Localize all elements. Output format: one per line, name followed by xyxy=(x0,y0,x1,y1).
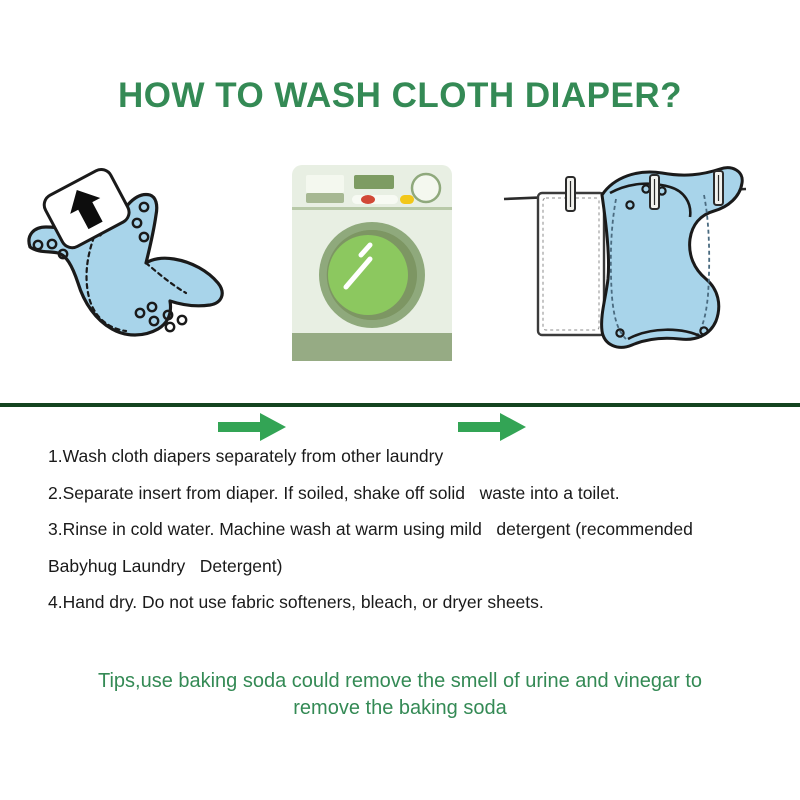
panel-divider xyxy=(292,207,452,210)
arrow-machine-to-line-icon xyxy=(458,410,528,444)
infographic-page: HOW TO WASH CLOTH DIAPER? xyxy=(0,0,800,800)
illustration-band xyxy=(0,155,800,380)
tips-line-2: remove the baking soda xyxy=(0,695,800,722)
instruction-step-2: 2.Separate insert from diaper. If soiled… xyxy=(48,485,760,503)
arrow-diaper-to-machine-icon xyxy=(218,410,288,444)
clothespin xyxy=(650,175,659,209)
machine-knob xyxy=(412,174,440,202)
tips-line-1: Tips,use baking soda could remove the sm… xyxy=(0,668,800,695)
clothespin xyxy=(566,177,575,211)
machine-control-panel xyxy=(306,174,440,204)
page-title: HOW TO WASH CLOTH DIAPER? xyxy=(0,76,800,116)
clothesline-illustration xyxy=(498,155,778,380)
clothespin xyxy=(714,171,723,205)
instruction-list: 1.Wash cloth diapers separately from oth… xyxy=(48,448,760,612)
indicator-light-red xyxy=(361,195,375,204)
instruction-step-1: 1.Wash cloth diapers separately from oth… xyxy=(48,448,760,466)
indicator-light-yellow xyxy=(400,195,414,204)
tips-note: Tips,use baking soda could remove the sm… xyxy=(0,668,800,722)
instruction-step-3: 3.Rinse in cold water. Machine wash at w… xyxy=(48,521,760,539)
detergent-drawer xyxy=(306,175,344,193)
instruction-step-3-continued: Babyhug Laundry Detergent) xyxy=(48,558,760,576)
machine-door xyxy=(319,222,425,328)
instruction-step-4: 4.Hand dry. Do not use fabric softeners,… xyxy=(48,594,760,612)
hanging-insert xyxy=(538,193,604,335)
cloth-diaper-illustration xyxy=(22,155,252,380)
section-divider xyxy=(0,403,800,407)
machine-display xyxy=(354,175,394,189)
washing-machine-illustration xyxy=(282,155,462,380)
